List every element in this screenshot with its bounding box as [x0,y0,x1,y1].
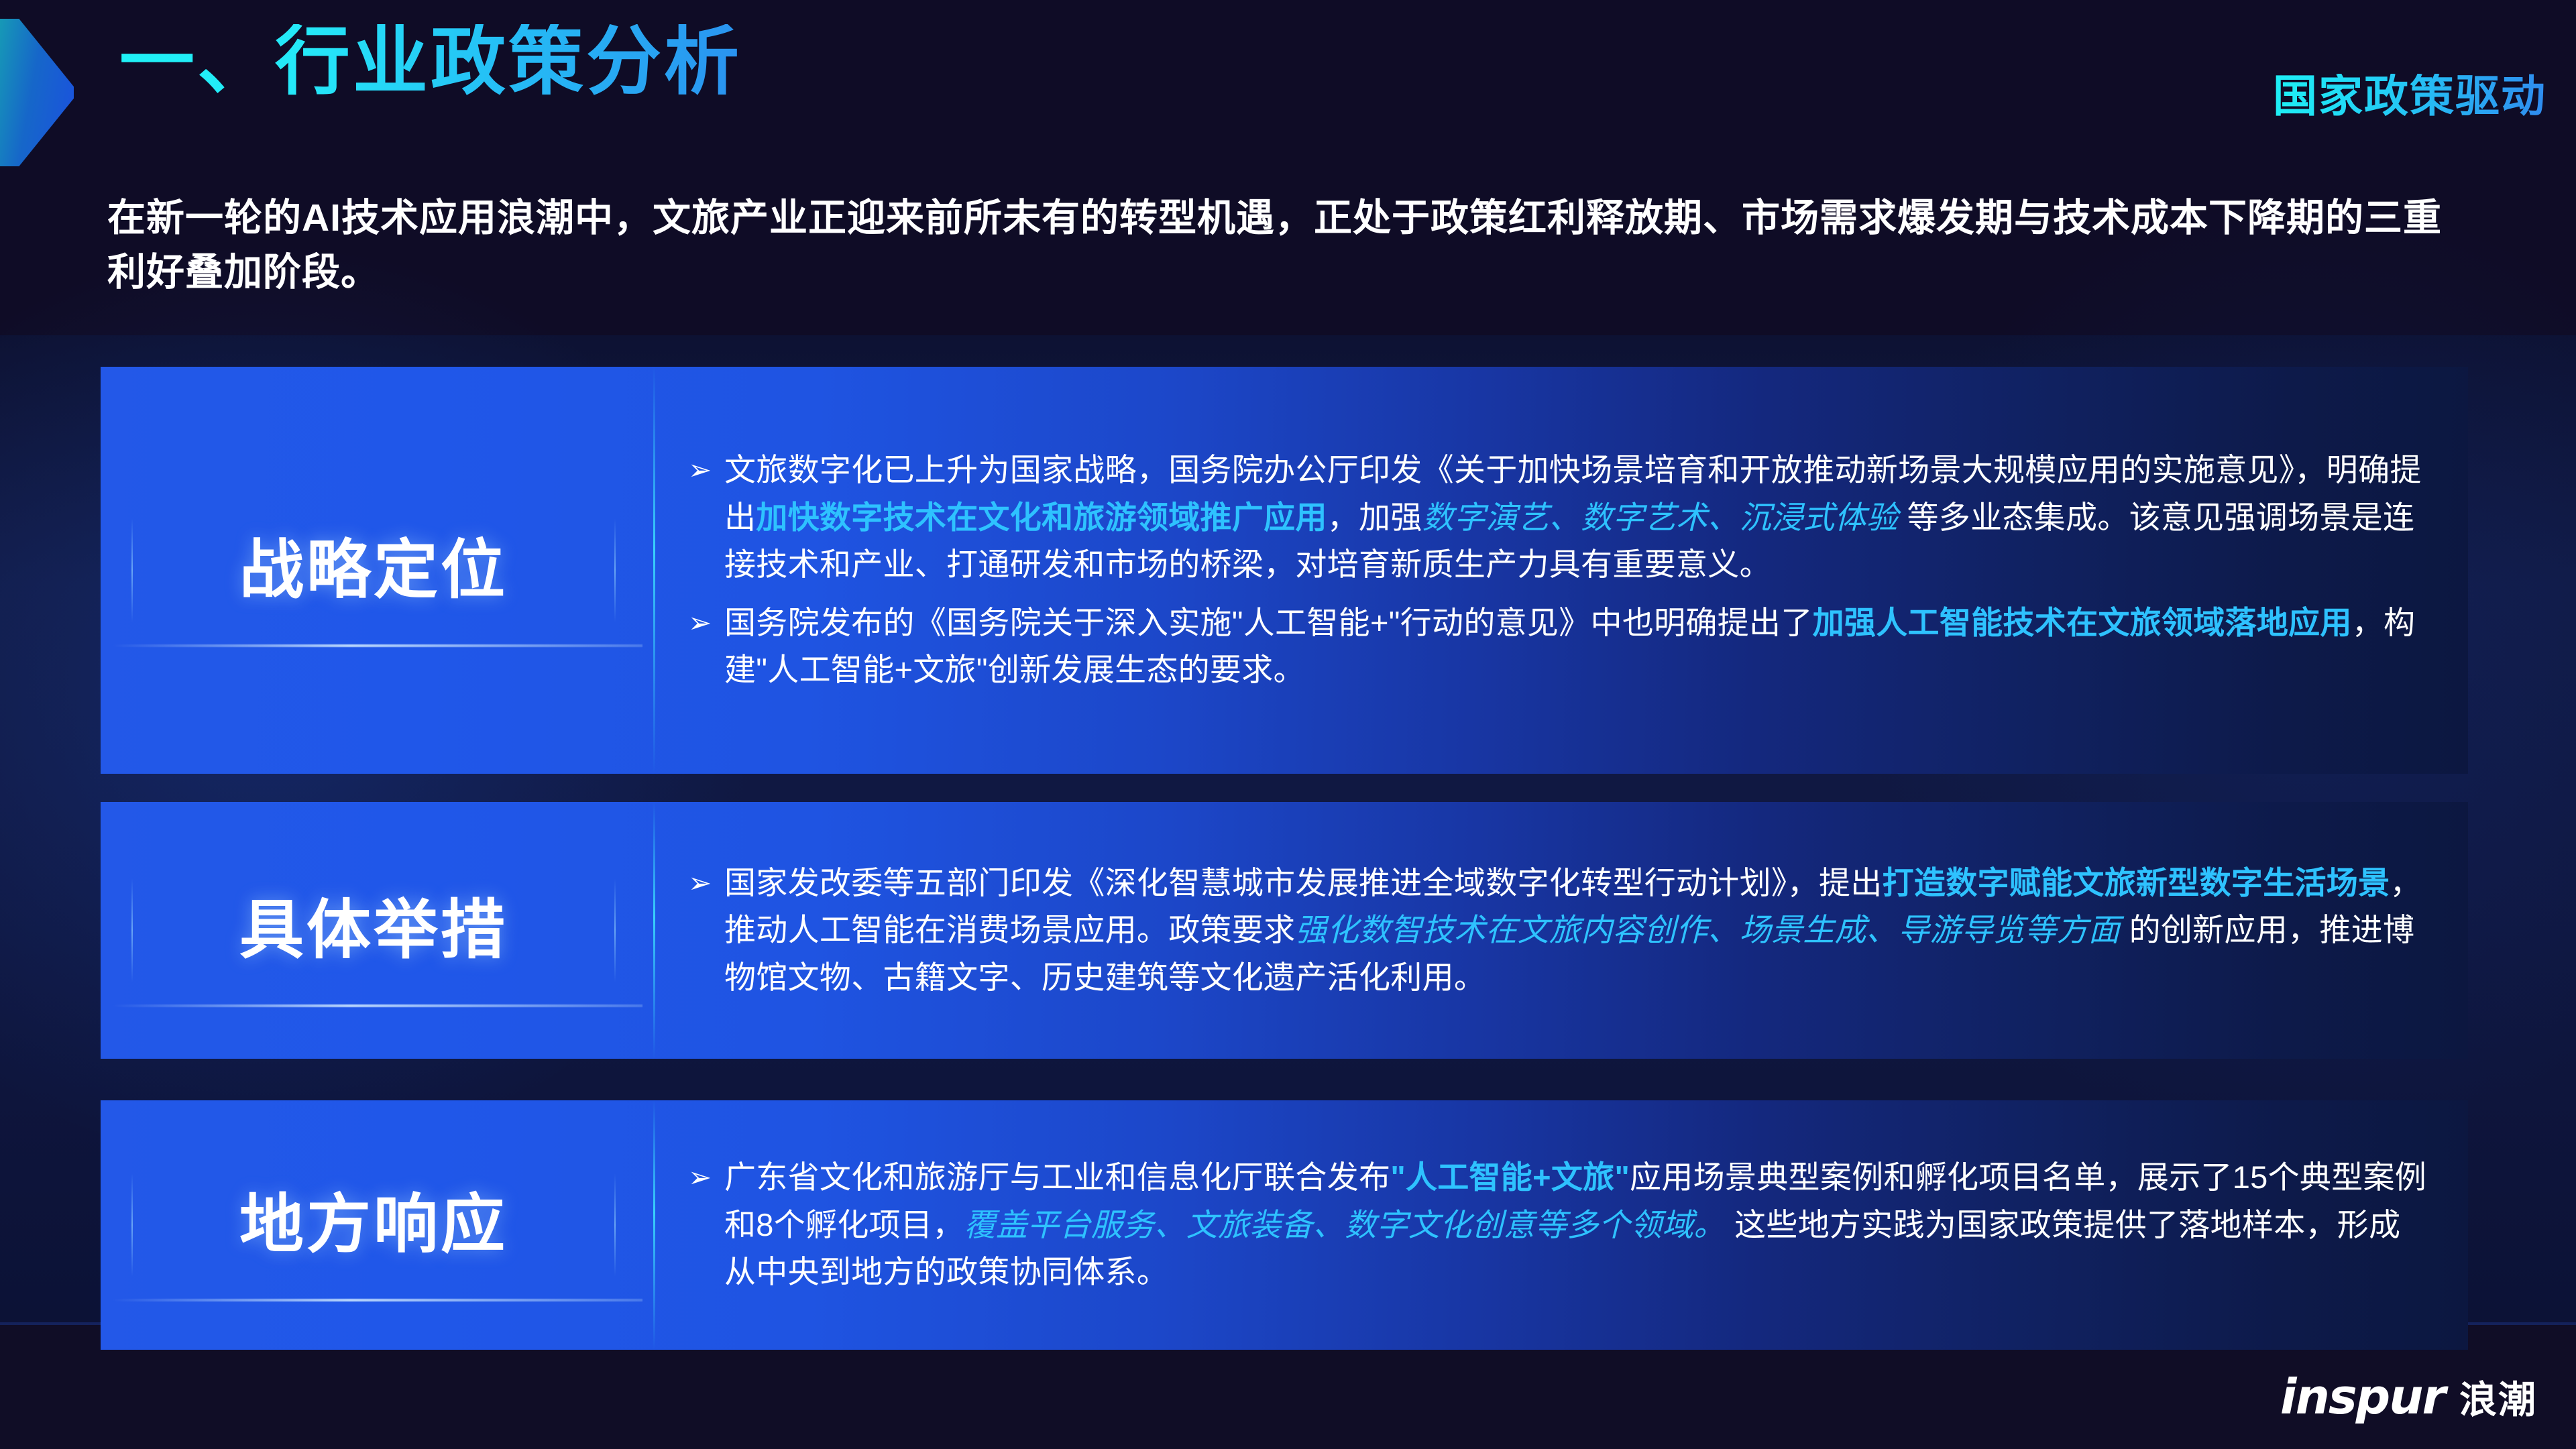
highlight-text: 打造数字赋能文旅新型数字生活场景 [1883,865,2390,901]
brand-logo-chinese: 浪潮 [2459,1379,2537,1421]
bullet-item: ➢国务院发布的《国务院关于深入实施"人工智能+"行动的意见》中也明确提出了加强人… [685,599,2428,694]
subtitle-paragraph: 在新一轮的AI技术应用浪潮中，文旅产业正迎来前所未有的转型机遇，正处于政策红利释… [107,191,2468,300]
brand-logo-wordmark: inspur [2280,1373,2445,1421]
bullet-marker-icon: ➢ [688,601,712,644]
card-body-column: ➢文旅数字化已上升为国家战略，国务院办公厅印发《关于加快场景培育和开放推动新场景… [685,367,2428,774]
card-label-text: 具体举措 [138,899,609,963]
card-label-underline [111,644,642,647]
bullet-item: ➢文旅数字化已上升为国家战略，国务院办公厅印发《关于加快场景培育和开放推动新场景… [685,447,2428,589]
card-label-text: 地方响应 [138,1193,609,1257]
page-title: 一、行业政策分析 [119,24,742,99]
bullet-item: ➢国家发改委等五部门印发《深化智慧城市发展推进全域数字化转型行动计划》，提出打造… [685,860,2428,1002]
body-text: 国务院发布的《国务院关于深入实施"人工智能+"行动的意见》中也明确提出了 [724,605,1813,640]
card-label-column: 战略定位 [101,367,653,774]
card-label-frame: 具体举措 [131,869,616,992]
highlight-text: "人工智能+文旅" [1390,1159,1630,1195]
card-label-frame: 战略定位 [131,509,616,632]
bullet-marker-icon: ➢ [688,448,712,491]
card-label-underline [111,1004,642,1007]
body-text: 国家发改委等五部门印发《深化智慧城市发展推进全域数字化转型行动计划》，提出 [724,865,1883,901]
policy-card[interactable]: 地方响应 ➢广东省文化和旅游厅与工业和信息化厅联合发布"人工智能+文旅"应用场景… [101,1100,2468,1350]
card-body-column: ➢国家发改委等五部门印发《深化智慧城市发展推进全域数字化转型行动计划》，提出打造… [685,802,2428,1059]
card-label-box: 战略定位 [131,509,616,632]
body-text: 广东省文化和旅游厅与工业和信息化厅联合发布 [724,1159,1390,1195]
body-text: ，加强 [1327,500,1422,535]
card-label-column: 地方响应 [101,1100,653,1350]
highlight-italic-text: 数字演艺、数字艺术、沉浸式体验 [1422,500,1899,535]
card-label-underline [111,1299,642,1301]
highlight-text: 加强人工智能技术在文旅领域落地应用 [1813,605,2352,640]
highlight-text: 加快数字技术在文化和旅游领域推广应用 [756,500,1327,535]
card-label-box: 具体举措 [131,869,616,992]
bullet-marker-icon: ➢ [688,1155,712,1199]
card-label-box: 地方响应 [131,1163,616,1287]
bullet-item: ➢广东省文化和旅游厅与工业和信息化厅联合发布"人工智能+文旅"应用场景典型案例和… [685,1154,2428,1296]
card-label-column: 具体举措 [101,802,653,1059]
header-tag-label: 国家政策驱动 [2273,74,2546,118]
card-label-frame: 地方响应 [131,1163,616,1287]
bullet-marker-icon: ➢ [688,861,712,905]
highlight-italic-text: 强化数智技术在文旅内容创作、场景生成、导游导览等方面 [1295,912,2120,947]
brand-logo: inspur 浪潮 [2280,1373,2537,1421]
card-body-column: ➢广东省文化和旅游厅与工业和信息化厅联合发布"人工智能+文旅"应用场景典型案例和… [685,1100,2428,1350]
highlight-italic-text: 覆盖平台服务、文旅装备、数字文化创意等多个领域。 [964,1207,1726,1242]
slide-root: 一、行业政策分析 国家政策驱动 在新一轮的AI技术应用浪潮中，文旅产业正迎来前所… [0,0,2576,1449]
card-label-text: 战略定位 [138,538,609,603]
policy-card[interactable]: 具体举措 ➢国家发改委等五部门印发《深化智慧城市发展推进全域数字化转型行动计划》… [101,802,2468,1059]
policy-card[interactable]: 战略定位 ➢文旅数字化已上升为国家战略，国务院办公厅印发《关于加快场景培育和开放… [101,367,2468,774]
